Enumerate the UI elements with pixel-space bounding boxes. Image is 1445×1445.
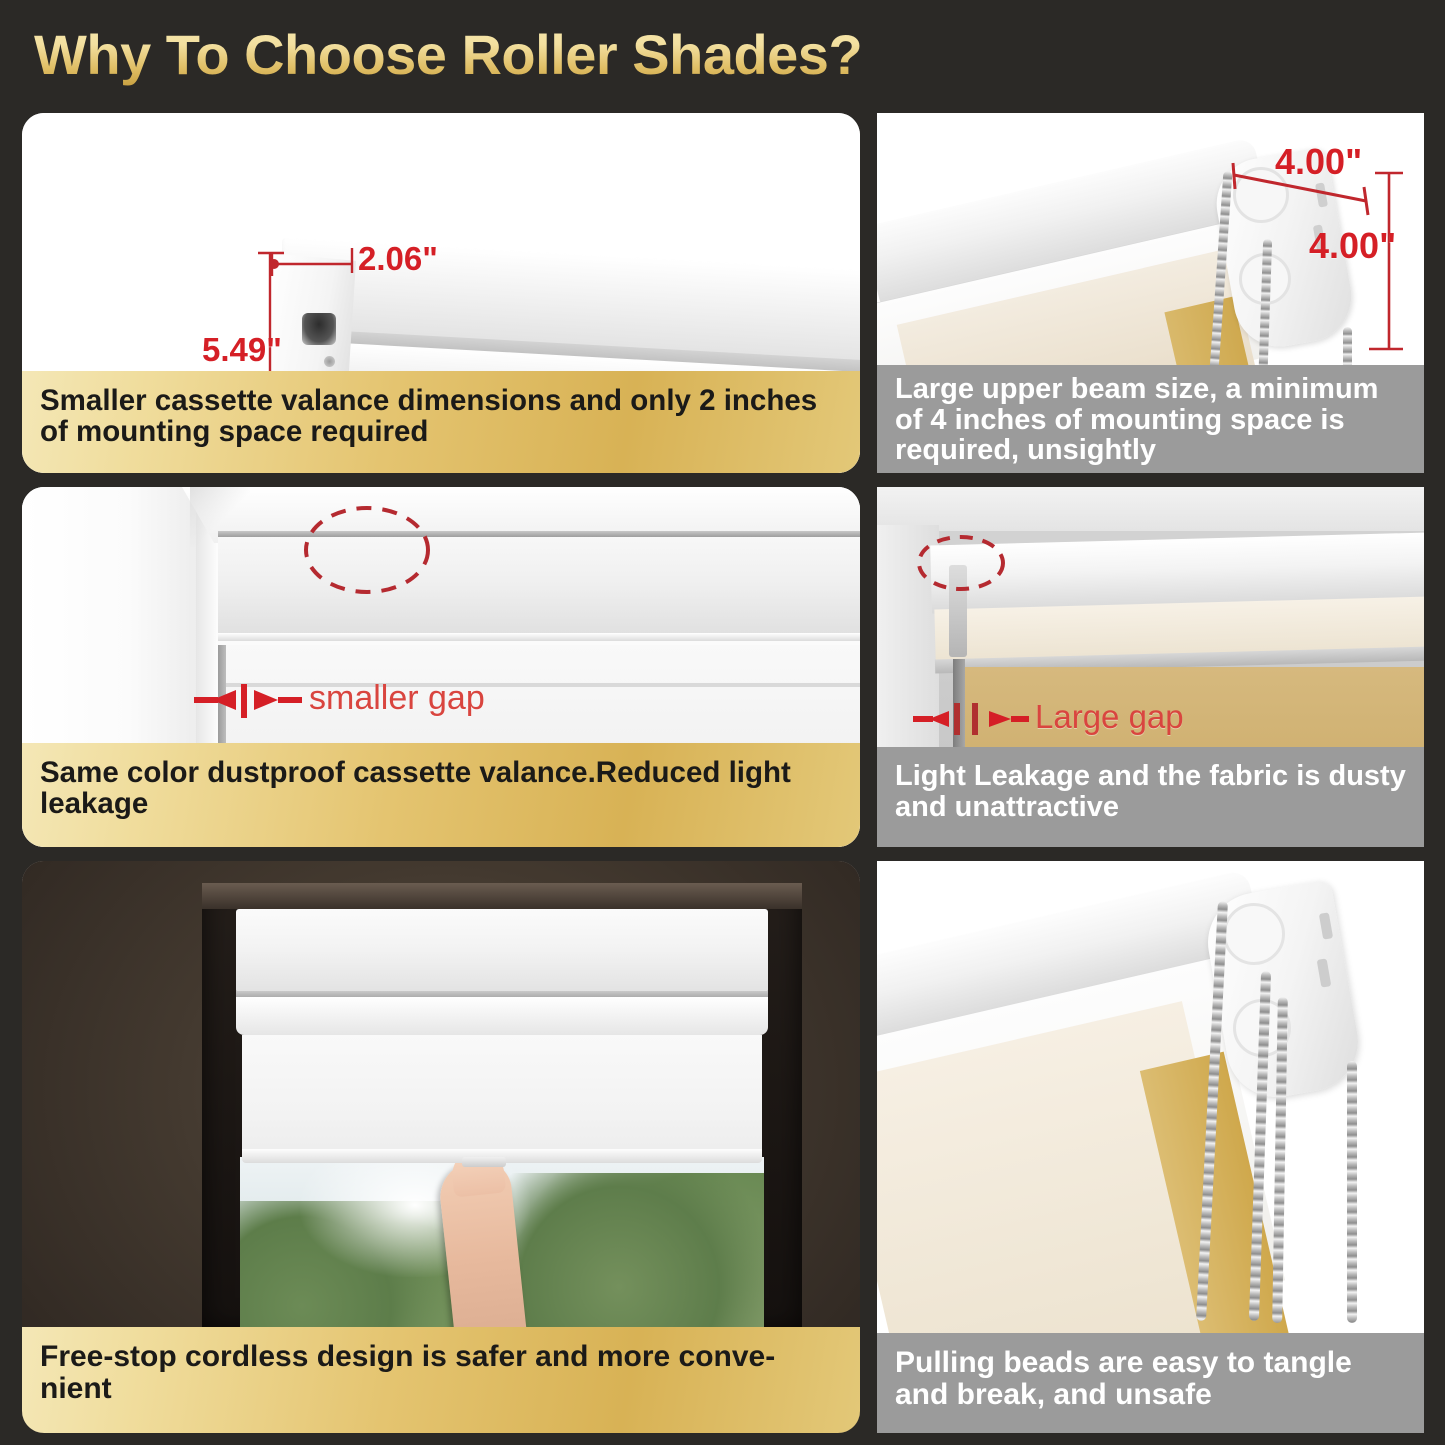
panel-5: Free-stop cordless design is safer and m… — [22, 861, 860, 1433]
end-cap-slot — [302, 313, 336, 345]
panel-4-gap-label: Large gap — [1035, 698, 1184, 736]
window-recess-top-light — [202, 883, 802, 909]
panel-5-caption: Free-stop cordless design is safer and m… — [22, 1327, 860, 1433]
shade-fabric — [242, 1035, 762, 1157]
panel-6-caption: Pulling beads are easy to tangle and bre… — [877, 1333, 1424, 1433]
infographic-root: Why To Choose Roller Shades? — [0, 0, 1445, 1445]
valance-lower-lip — [236, 997, 768, 1035]
valance-top-rail — [218, 531, 860, 537]
panel-3-caption: Same color dustproof cassette valance.Re… — [22, 743, 860, 847]
ceiling-band — [877, 487, 1424, 531]
bead-chain-right — [1347, 1061, 1357, 1323]
end-cap-screw-upper — [324, 356, 335, 367]
panel-3-gap-label: smaller gap — [309, 679, 485, 718]
cassette-valance — [218, 535, 860, 635]
panel-1-width-label: 2.06" — [358, 240, 438, 278]
page-title: Why To Choose Roller Shades? — [34, 22, 862, 87]
panel-2-height-label: 4.00" — [1309, 225, 1396, 267]
valance-lower-edge — [218, 633, 860, 641]
bracket-fitting — [949, 565, 967, 657]
panel-6: Pulling beads are easy to tangle and bre… — [877, 861, 1424, 1433]
shade-valance — [236, 909, 768, 993]
panel-2-width-label: 4.00" — [1275, 141, 1362, 183]
panel-3: smaller gap Same color dustproof cassett… — [22, 487, 860, 847]
bracket-pulley-upper — [1223, 903, 1285, 965]
panel-1-height-label: 5.49" — [202, 331, 282, 369]
panel-4: Large gap Light Leakage and the fabric i… — [877, 487, 1424, 847]
panel-2: 4.00" 4.00" Large upper beam size, a min… — [877, 113, 1424, 473]
bottom-rail-grip — [462, 1157, 506, 1167]
panel-1: 2.06" 5.49" Smaller cassette valance dim… — [22, 113, 860, 473]
panel-4-caption: Light Leakage and the fabric is dusty an… — [877, 747, 1424, 847]
panel-2-caption: Large upper beam size, a minimum of 4 in… — [877, 365, 1424, 473]
panel-1-caption: Smaller cassette valance dimensions and … — [22, 371, 860, 473]
